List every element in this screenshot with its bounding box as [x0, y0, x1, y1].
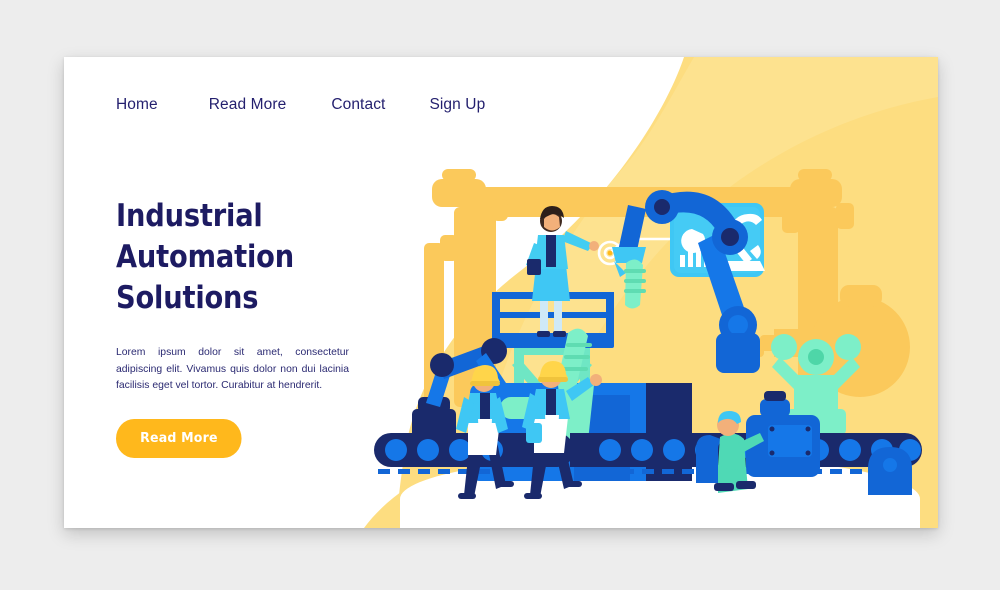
bolt-part: [624, 259, 646, 308]
hero-description: Lorem ipsum dolor sit amet, consectetur …: [116, 345, 349, 396]
read-more-button[interactable]: Read More: [116, 419, 242, 458]
main-navigation[interactable]: Home Read More Contact Sign Up: [116, 96, 485, 114]
nav-item-contact[interactable]: Contact: [331, 96, 385, 114]
page-title: Industrial Automation Solutions: [116, 196, 380, 319]
target-center-dot: [608, 251, 613, 256]
landing-page-card: Home Read More Contact Sign Up Industria…: [64, 57, 938, 528]
nav-item-sign-up[interactable]: Sign Up: [429, 96, 485, 114]
page-root: Home Read More Contact Sign Up Industria…: [0, 0, 1000, 590]
nav-item-read-more[interactable]: Read More: [209, 96, 287, 114]
hero-section: Industrial Automation Solutions Lorem ip…: [116, 196, 416, 458]
floor-base: [400, 499, 920, 528]
nav-item-home[interactable]: Home: [116, 96, 158, 114]
industrial-automation-illustration: [374, 147, 938, 528]
